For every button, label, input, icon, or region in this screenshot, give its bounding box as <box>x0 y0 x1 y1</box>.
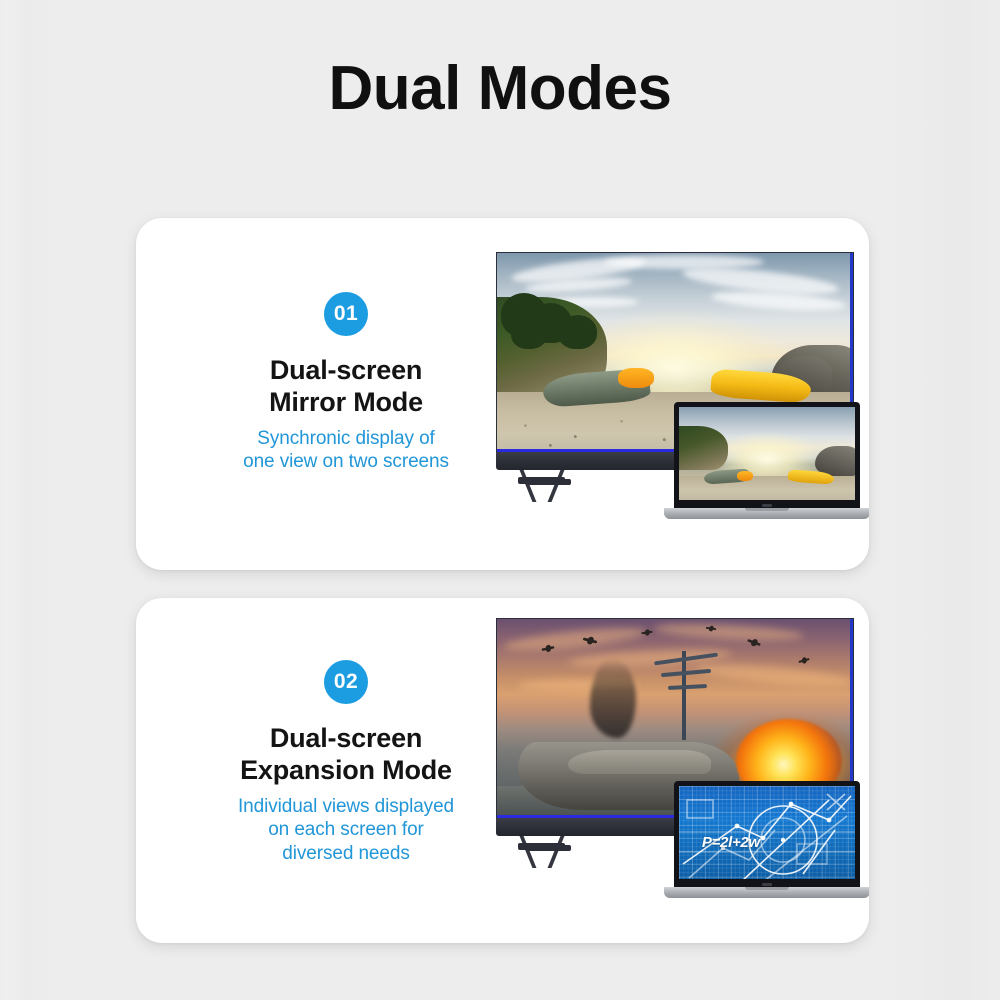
mode-card-expansion[interactable]: 02 Dual-screen Expansion Mode Individual… <box>136 598 869 943</box>
laptop-device: P=2l+2w <box>674 781 860 898</box>
mode-title: Dual-screen Expansion Mode <box>176 722 516 786</box>
smoke-plume <box>590 659 636 739</box>
laptop-lid <box>674 402 860 508</box>
page-title: Dual Modes <box>0 58 1000 120</box>
cloud-shape <box>504 624 647 655</box>
cloud-shape <box>604 255 764 269</box>
laptop-screen: P=2l+2w <box>679 786 855 879</box>
tv-leg <box>520 836 537 868</box>
page-root: Dual Modes 01 Dual-screen Mirror Mode Sy… <box>0 0 1000 1000</box>
card-inner: 02 Dual-screen Expansion Mode Individual… <box>136 598 869 943</box>
orange-bag <box>737 471 753 481</box>
tv-leg-foot <box>528 845 571 852</box>
card-text-column: 01 Dual-screen Mirror Mode Synchronic di… <box>176 292 516 474</box>
laptop-base <box>664 887 869 898</box>
laptop-logo <box>762 504 772 507</box>
tv-leg <box>548 470 565 502</box>
card-text-column: 02 Dual-screen Expansion Mode Individual… <box>176 660 516 865</box>
aircraft-silhouette <box>642 631 653 635</box>
step-badge-02: 02 <box>324 660 368 704</box>
mode-title: Dual-screen Mirror Mode <box>176 354 516 418</box>
laptop-device <box>674 402 860 519</box>
ship-mast <box>682 651 686 741</box>
tv-leg <box>520 470 537 502</box>
laptop-logo <box>762 883 772 886</box>
tv-leg <box>548 836 565 868</box>
laptop-trackpad-notch <box>745 887 789 890</box>
aircraft-silhouette <box>706 627 717 630</box>
media-illustration-expansion: P=2l+2w <box>486 618 869 923</box>
card-inner: 01 Dual-screen Mirror Mode Synchronic di… <box>136 218 869 570</box>
battleship-deck <box>568 750 710 774</box>
laptop-screen <box>679 407 855 500</box>
orange-bag <box>618 368 654 388</box>
scene-beach-mirrored <box>679 407 855 500</box>
aircraft-silhouette <box>798 658 809 663</box>
cliff-left <box>679 426 728 471</box>
tv-leg-foot <box>528 479 571 486</box>
cloud-shape <box>696 660 853 689</box>
ship-yardarm <box>668 684 707 690</box>
mode-subtitle: Synchronic display of one view on two sc… <box>176 427 516 473</box>
foliage-shape <box>558 315 597 349</box>
media-illustration-mirror <box>486 252 869 537</box>
scene-blueprint-math: P=2l+2w <box>679 786 855 879</box>
laptop-base <box>664 508 869 519</box>
laptop-trackpad-notch <box>745 508 789 511</box>
laptop-lid: P=2l+2w <box>674 781 860 887</box>
cloud-shape <box>653 621 803 643</box>
step-badge-01: 01 <box>324 292 368 336</box>
mode-card-mirror[interactable]: 01 Dual-screen Mirror Mode Synchronic di… <box>136 218 869 570</box>
mode-subtitle: Individual views displayed on each scree… <box>176 795 516 865</box>
blueprint-diagram-icon <box>679 786 855 879</box>
blueprint-formula-label: P=2l+2w <box>702 834 760 851</box>
foliage-shape <box>511 317 547 349</box>
